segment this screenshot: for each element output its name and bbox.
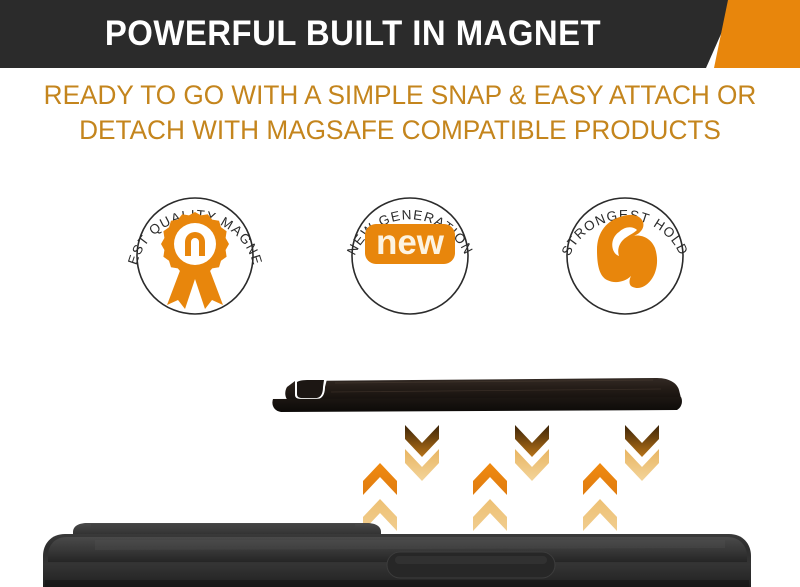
iphone-body [35,510,765,587]
product-feature-image: POWERFUL BUILT IN MAGNET READY TO GO WIT… [0,0,800,587]
product-illustration [0,335,800,587]
down-chevron-group [405,425,659,481]
header-orange-accent-shape [714,0,800,68]
subtitle: READY TO GO WITH A SIMPLE SNAP & EASY AT… [41,78,759,148]
page-title: POWERFUL BUILT IN MAGNET [21,0,685,68]
header-banner: POWERFUL BUILT IN MAGNET [0,0,800,68]
new-tag-label: new [376,223,445,262]
badge-best-quality-magnet: BEST QUALITY MAGNET [115,172,275,332]
feature-badges: BEST QUALITY MAGNET [0,160,800,335]
volume-button [387,552,555,578]
badge-strongest-hold: STRONGEST HOLD [545,172,705,332]
new-tag-icon: new [365,223,455,264]
subtitle-line-2: DETACH WITH MAGSAFE COMPATIBLE PRODUCTS [41,113,759,148]
badge-new-generation: NEW GENERATION new [330,172,490,332]
subtitle-line-1: READY TO GO WITH A SIMPLE SNAP & EASY AT… [41,78,759,113]
